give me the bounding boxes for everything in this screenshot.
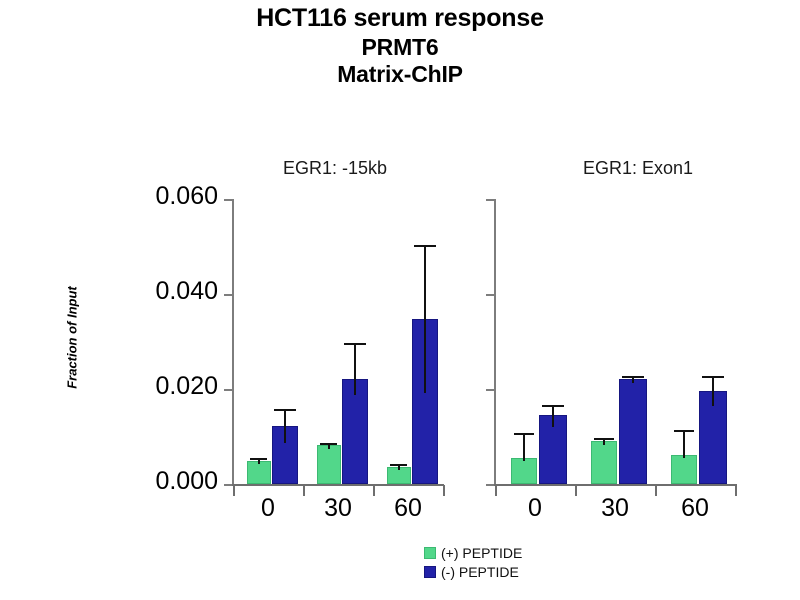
left-x-axis (232, 484, 444, 486)
chart-figure: HCT116 serum response PRMT6 Matrix-ChIP … (0, 0, 800, 600)
left-y-tick (224, 294, 233, 296)
y-axis-label: Fraction of Input (65, 263, 80, 413)
errorbar-cap (622, 376, 644, 378)
errorbar-cap (674, 430, 694, 432)
left-y-tick (224, 199, 233, 201)
title-line-1: HCT116 serum response (0, 4, 800, 34)
left-x-tick (303, 485, 305, 496)
y-tick-label: 0.060 (155, 182, 218, 211)
errorbar-right-60-plus (683, 430, 685, 458)
errorbar-cap (594, 438, 614, 440)
chart-title: HCT116 serum response PRMT6 Matrix-ChIP (0, 4, 800, 88)
bar-right-30-minus (619, 379, 647, 484)
bar-right-0-plus (511, 458, 537, 484)
chart-legend: (+) PEPTIDE (-) PEPTIDE (424, 543, 522, 581)
right-y-axis (494, 199, 496, 486)
errorbar-right-60-minus (712, 376, 714, 406)
legend-swatch-navy-icon (424, 566, 436, 578)
left-x-tick (443, 485, 445, 496)
right-x-label-30: 30 (590, 494, 640, 523)
left-x-tick (373, 485, 375, 496)
errorbar-left-0-minus (284, 409, 286, 443)
bar-left-0-plus (247, 461, 271, 484)
legend-item-plus-peptide: (+) PEPTIDE (424, 543, 522, 562)
right-y-tick (486, 294, 495, 296)
panel-header-left: EGR1: -15kb (283, 158, 387, 179)
left-x-label-30: 30 (313, 494, 363, 523)
left-x-tick (233, 485, 235, 496)
right-x-label-60: 60 (670, 494, 720, 523)
bar-right-60-plus (671, 455, 697, 484)
legend-label-minus-peptide: (-) PEPTIDE (441, 564, 519, 580)
errorbar-cap (414, 245, 436, 247)
right-x-label-0: 0 (510, 494, 560, 523)
y-tick-label: 0.040 (155, 277, 218, 306)
right-y-tick (486, 389, 495, 391)
errorbar-left-30-minus (354, 343, 356, 395)
right-x-tick (655, 485, 657, 496)
errorbar-left-60-minus (424, 245, 426, 393)
right-x-tick (575, 485, 577, 496)
errorbar-cap (514, 433, 534, 435)
right-x-tick (495, 485, 497, 496)
left-y-tick (224, 389, 233, 391)
errorbar-right-0-minus (552, 405, 554, 427)
bar-left-30-plus (317, 445, 341, 484)
bar-right-30-plus (591, 441, 617, 484)
panel-header-right: EGR1: Exon1 (583, 158, 693, 179)
legend-label-plus-peptide: (+) PEPTIDE (441, 545, 522, 561)
left-y-axis (232, 199, 234, 486)
right-x-tick (735, 485, 737, 496)
y-tick-label: 0.000 (155, 467, 218, 496)
errorbar-cap (702, 376, 724, 378)
errorbar-cap (344, 343, 366, 345)
left-x-label-60: 60 (383, 494, 433, 523)
errorbar-cap (542, 405, 564, 407)
y-tick-label: 0.020 (155, 372, 218, 401)
errorbar-right-0-plus (523, 433, 525, 461)
right-y-tick (486, 199, 495, 201)
right-x-axis (494, 484, 737, 486)
errorbar-cap (390, 464, 407, 466)
title-line-3: Matrix-ChIP (0, 61, 800, 88)
title-line-2: PRMT6 (0, 34, 800, 61)
errorbar-cap (250, 458, 267, 460)
legend-item-minus-peptide: (-) PEPTIDE (424, 562, 522, 581)
left-x-label-0: 0 (243, 494, 293, 523)
errorbar-cap (320, 443, 337, 445)
errorbar-cap (274, 409, 296, 411)
legend-swatch-green-icon (424, 547, 436, 559)
